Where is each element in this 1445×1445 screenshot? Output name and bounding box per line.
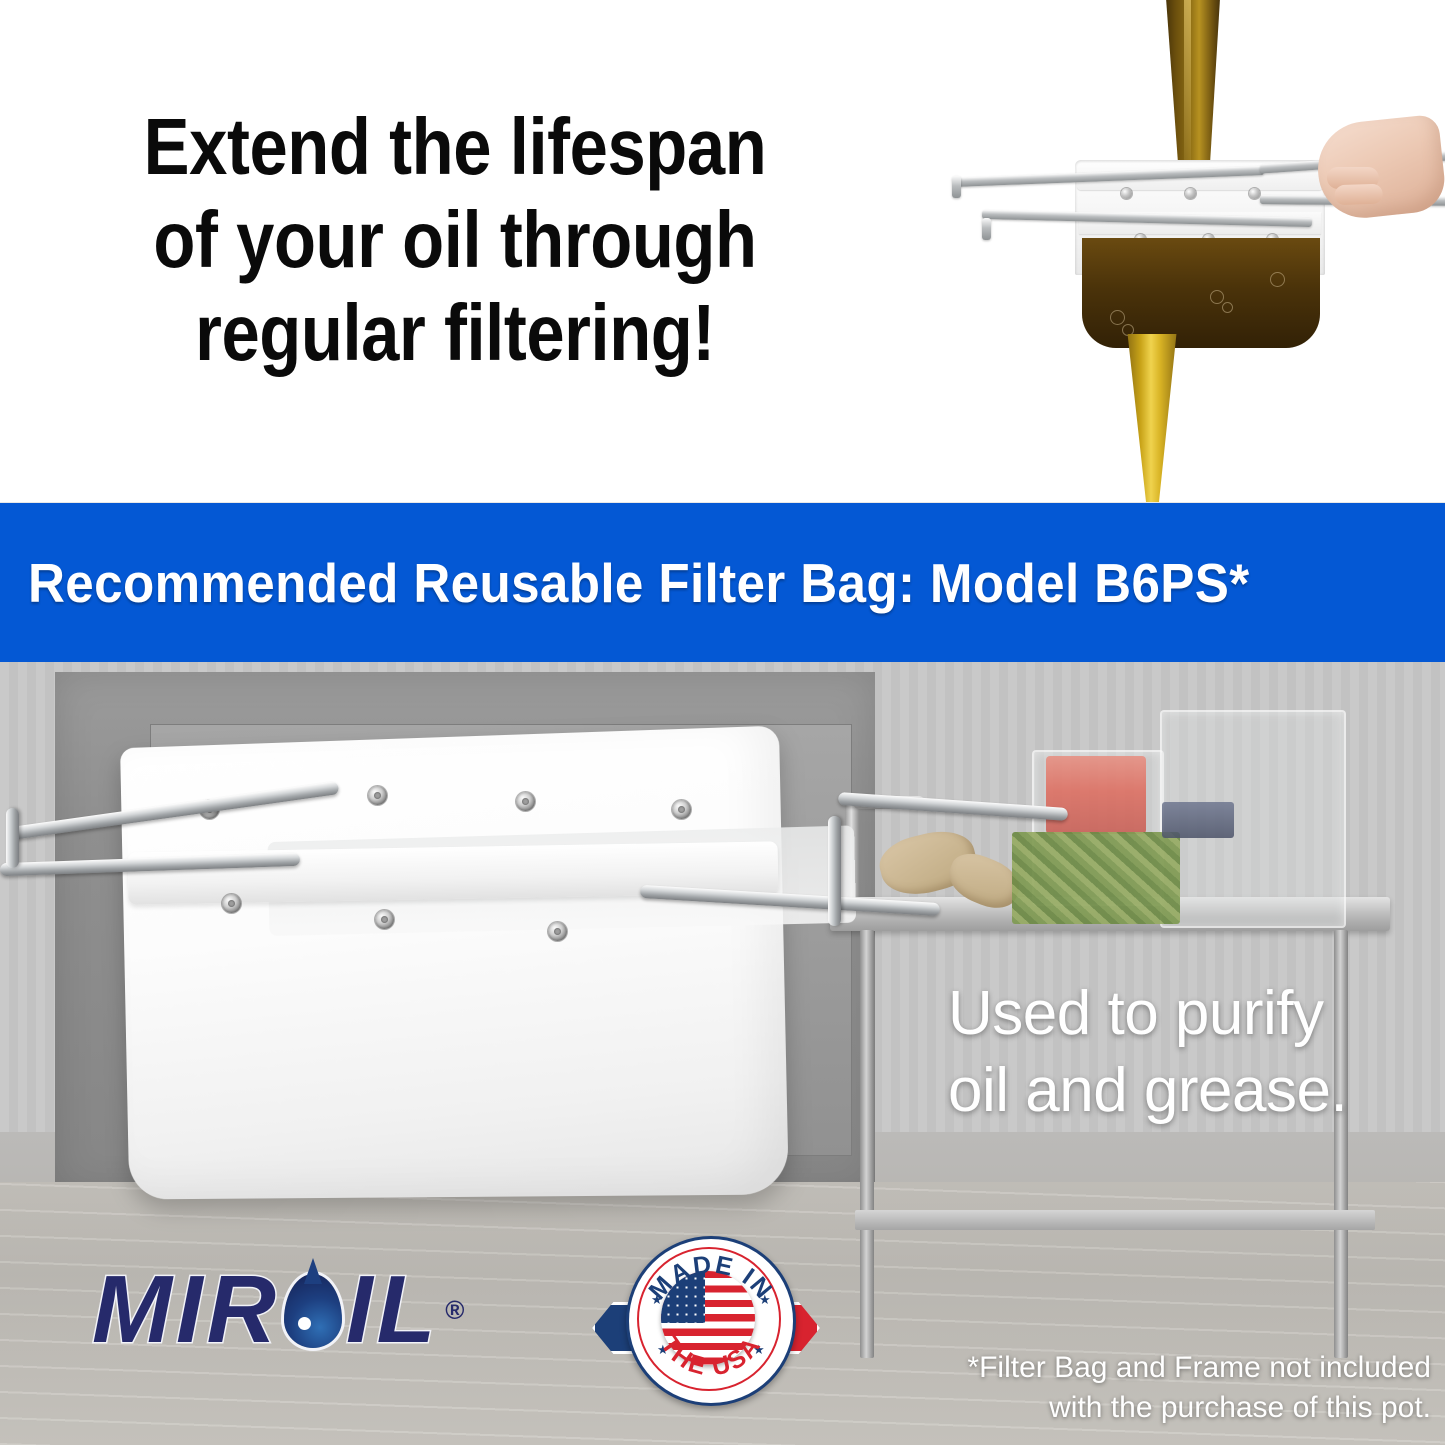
table-leg (1334, 1228, 1348, 1358)
banner: Recommended Reusable Filter Bag: Model B… (0, 503, 1445, 662)
finger (1334, 184, 1383, 206)
water-drop-icon (284, 1274, 342, 1348)
top-panel: Extend the lifespan of your oil through … (0, 0, 1445, 503)
grommet-icon (375, 910, 394, 929)
prep-table-shelf (855, 1210, 1375, 1230)
grommet-icon (672, 800, 691, 819)
badge-bottom-text: THE USA (655, 1331, 767, 1382)
logo-prefix: MIR (92, 1262, 280, 1358)
clean-oil-stream (1126, 334, 1178, 503)
bubble (1222, 302, 1233, 313)
produce-greens (1012, 832, 1180, 924)
miroil-logo: MIRIL ® (92, 1255, 464, 1365)
product-infographic: Extend the lifespan of your oil through … (0, 0, 1445, 1445)
frame-hook (952, 176, 961, 198)
headline-line-2: of your oil through (98, 193, 812, 286)
headline-line-3: regular filtering! (98, 286, 812, 379)
frame-hook (982, 218, 991, 240)
grommet-icon (222, 894, 241, 913)
badge-bottom-arc: THE USA (629, 1239, 793, 1403)
purify-caption: Used to purify oil and grease. (948, 975, 1418, 1129)
purify-line-2: oil and grease. (948, 1052, 1418, 1129)
bubble (1270, 272, 1285, 287)
logo-wordmark: MIRIL (92, 1262, 439, 1358)
grommet-icon (1185, 188, 1196, 199)
footnote-line-1: *Filter Bag and Frame not included (871, 1348, 1431, 1388)
grommet-icon (368, 786, 387, 805)
grommet-icon (516, 792, 535, 811)
purify-line-1: Used to purify (948, 975, 1418, 1052)
grommet-icon (548, 922, 567, 941)
footnote-line-2: with the purchase of this pot. (871, 1388, 1431, 1428)
headline-line-1: Extend the lifespan (98, 100, 812, 193)
headline: Extend the lifespan of your oil through … (98, 100, 812, 379)
filter-bag-large (0, 662, 900, 1262)
bubble (1210, 290, 1224, 304)
made-in-usa-badge: ★ ★ ★ ★ ★ ★ MADE IN THE USA (600, 1228, 812, 1408)
grommet-icon (1249, 188, 1260, 199)
badge-circle: ★ ★ ★ ★ MADE IN THE USA (626, 1236, 796, 1406)
hand (1313, 114, 1445, 223)
produce-red (1046, 756, 1146, 834)
logo-suffix: IL (346, 1262, 439, 1358)
registered-trademark-icon: ® (445, 1295, 464, 1326)
produce-berries (1162, 802, 1234, 838)
filter-bag-pouring-photo (930, 0, 1445, 503)
bubble (1110, 310, 1125, 325)
frame-hook-right (828, 816, 841, 926)
frame-hook-left (6, 808, 19, 868)
banner-text: Recommended Reusable Filter Bag: Model B… (28, 551, 1250, 615)
oil-filled-bag (1082, 238, 1320, 348)
grommet-icon (1121, 188, 1132, 199)
footnote: *Filter Bag and Frame not included with … (871, 1348, 1431, 1428)
svg-text:THE USA: THE USA (655, 1331, 767, 1382)
